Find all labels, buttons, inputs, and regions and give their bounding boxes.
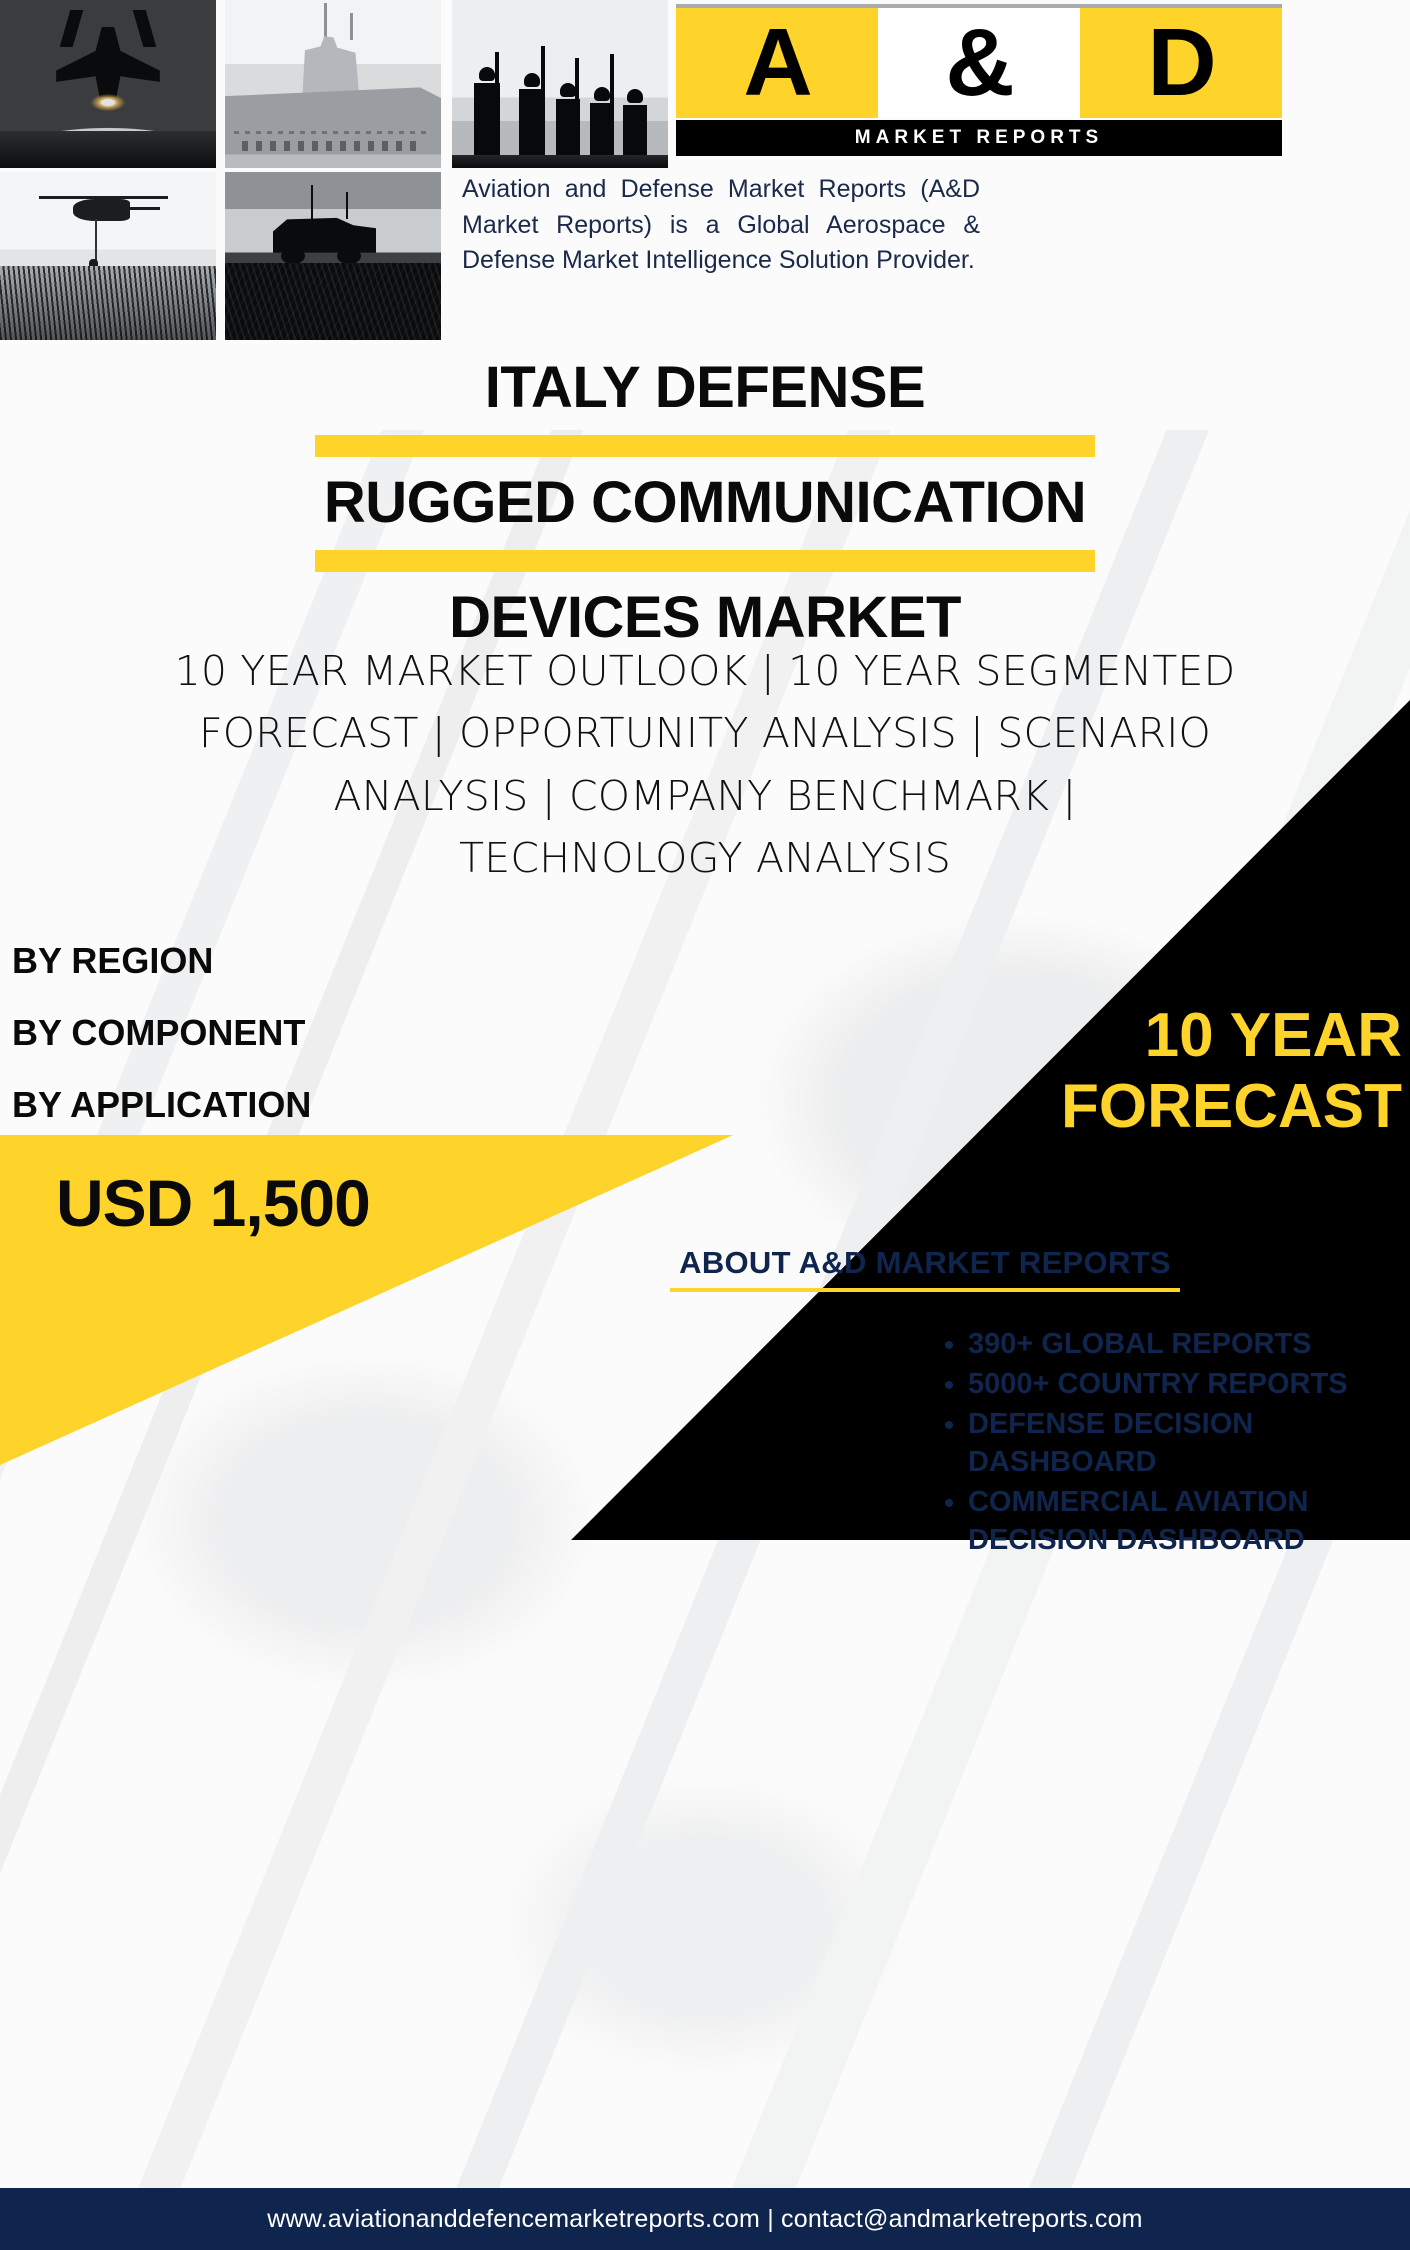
ship-mast-icon xyxy=(324,3,327,40)
about-bullet-defense-dashboard: DEFENSE DECISION DASHBOARD xyxy=(968,1406,1390,1482)
aircraft-carrier-photo xyxy=(225,0,441,168)
about-block: ABOUT A&D MARKET REPORTS 390+ GLOBAL REP… xyxy=(460,1245,1390,1562)
ship-mast-secondary-icon xyxy=(350,13,353,40)
forecast-badge: 10 YEAR FORECAST xyxy=(642,1000,1410,1143)
rifle-icon xyxy=(610,54,614,104)
logo-letter-ampersand: & xyxy=(878,8,1080,118)
antenna-icon xyxy=(311,185,313,219)
soldier-silhouette xyxy=(590,103,614,161)
segmentation-list: BY REGION BY COMPONENT BY APPLICATION xyxy=(12,925,632,1141)
ship-portholes xyxy=(242,141,423,151)
logo-letter-d: D xyxy=(1080,8,1282,118)
rifle-icon xyxy=(575,58,579,104)
brand-logo: A & D MARKET REPORTS xyxy=(676,4,1282,160)
poster-page: A & D MARKET REPORTS Aviation and Defens… xyxy=(0,0,1410,2250)
about-bullet-global-reports: 390+ GLOBAL REPORTS xyxy=(968,1326,1390,1364)
title-line-1: ITALY DEFENSE xyxy=(0,358,1410,419)
feature-line-4: TECHNOLOGY ANALYSIS xyxy=(0,827,1410,889)
ship-island-structure xyxy=(298,34,363,98)
about-heading: ABOUT A&D MARKET REPORTS xyxy=(460,1245,1390,1281)
soldier-silhouette xyxy=(556,99,580,161)
title-accent-bar-2 xyxy=(315,550,1095,572)
segmentation-item-application: BY APPLICATION xyxy=(12,1069,632,1141)
feature-line-1: 10 YEAR MARKET OUTLOOK | 10 YEAR SEGMENT… xyxy=(0,640,1410,702)
forecast-line-2: FORECAST xyxy=(642,1071,1402,1142)
rifle-icon xyxy=(541,46,545,104)
price-value: USD 1,500 xyxy=(56,1165,616,1241)
field-grass xyxy=(0,266,216,340)
logo-letter-blocks: A & D xyxy=(676,8,1282,118)
title-accent-bar-1 xyxy=(315,435,1095,457)
armored-vehicle-photo xyxy=(225,172,441,340)
report-title-block: ITALY DEFENSE RUGGED COMMUNICATION DEVIC… xyxy=(0,358,1410,649)
ship-railing xyxy=(234,131,433,134)
segmentation-item-region: BY REGION xyxy=(12,925,632,997)
footer-bar: www.aviationanddefencemarketreports.com … xyxy=(0,2188,1410,2250)
report-features-block: 10 YEAR MARKET OUTLOOK | 10 YEAR SEGMENT… xyxy=(0,640,1410,889)
about-bullet-country-reports: 5000+ COUNTRY REPORTS xyxy=(968,1366,1390,1404)
feature-line-3: ANALYSIS | COMPANY BENCHMARK | xyxy=(0,765,1410,827)
segmentation-item-component: BY COMPONENT xyxy=(12,997,632,1069)
feature-line-2: FORECAST | OPPORTUNITY ANALYSIS | SCENAR… xyxy=(0,702,1410,764)
armored-vehicle-body xyxy=(273,216,377,253)
rappel-rope xyxy=(95,219,97,263)
footer-contact-text: www.aviationanddefencemarketreports.com … xyxy=(267,2205,1142,2234)
helicopter-tail-boom xyxy=(121,207,160,210)
rifle-icon xyxy=(495,52,499,104)
logo-letter-a: A xyxy=(676,8,878,118)
jet-tail-left-icon xyxy=(59,10,83,47)
about-bullet-commercial-dashboard: COMMERCIAL AVIATION DECISION DASHBOARD xyxy=(968,1484,1390,1560)
logo-subtitle-text: MARKET REPORTS xyxy=(855,127,1103,149)
shoreline xyxy=(452,155,668,168)
soldiers-silhouette-photo xyxy=(452,0,668,168)
about-bullet-list: 390+ GLOBAL REPORTS 5000+ COUNTRY REPORT… xyxy=(460,1326,1390,1560)
jet-tail-right-icon xyxy=(133,10,157,47)
header-photo-strip xyxy=(0,0,672,340)
logo-subtitle-bar: MARKET REPORTS xyxy=(676,120,1282,156)
antenna-secondary-icon xyxy=(346,192,348,219)
jet-deck xyxy=(0,131,216,168)
helicopter-rappel-photo xyxy=(0,172,216,340)
about-accent-rule xyxy=(670,1288,1180,1292)
rough-terrain xyxy=(225,263,441,340)
title-line-2: RUGGED COMMUNICATION xyxy=(0,473,1410,534)
jet-afterburner-glow xyxy=(91,94,126,111)
company-intro-paragraph: Aviation and Defense Market Reports (A&D… xyxy=(462,172,980,279)
fighter-jet-photo xyxy=(0,0,216,168)
forecast-line-1: 10 YEAR xyxy=(642,1000,1402,1071)
soldier-silhouette xyxy=(623,105,647,161)
